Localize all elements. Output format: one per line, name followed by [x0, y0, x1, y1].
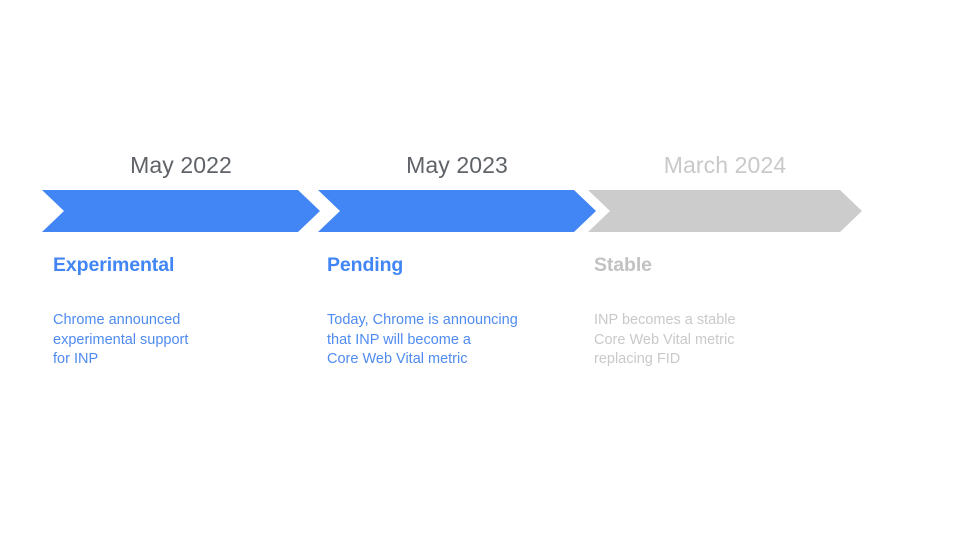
stage-date-label: May 2023 [318, 152, 596, 179]
stage-title: Experimental [53, 254, 174, 277]
stage-description: INP becomes a stable Core Web Vital metr… [594, 311, 736, 370]
stage-date-label: March 2024 [588, 152, 862, 179]
timeline-stage-pending: May 2023 Pending Today, Chrome is announ… [318, 0, 596, 540]
timeline-stage-stable: March 2024 Stable INP becomes a stable C… [588, 0, 862, 540]
chevron-arrow-icon [588, 190, 862, 232]
stage-date-label: May 2022 [42, 152, 320, 179]
stage-title: Pending [327, 254, 403, 277]
inp-timeline: May 2022 Experimental Chrome announced e… [0, 0, 960, 540]
chevron-arrow-icon [318, 190, 596, 232]
stage-title: Stable [594, 254, 652, 277]
chevron-arrow-icon [42, 190, 320, 232]
stage-description: Today, Chrome is announcing that INP wil… [327, 311, 518, 370]
stage-description: Chrome announced experimental support fo… [53, 311, 188, 370]
timeline-stage-experimental: May 2022 Experimental Chrome announced e… [42, 0, 320, 540]
